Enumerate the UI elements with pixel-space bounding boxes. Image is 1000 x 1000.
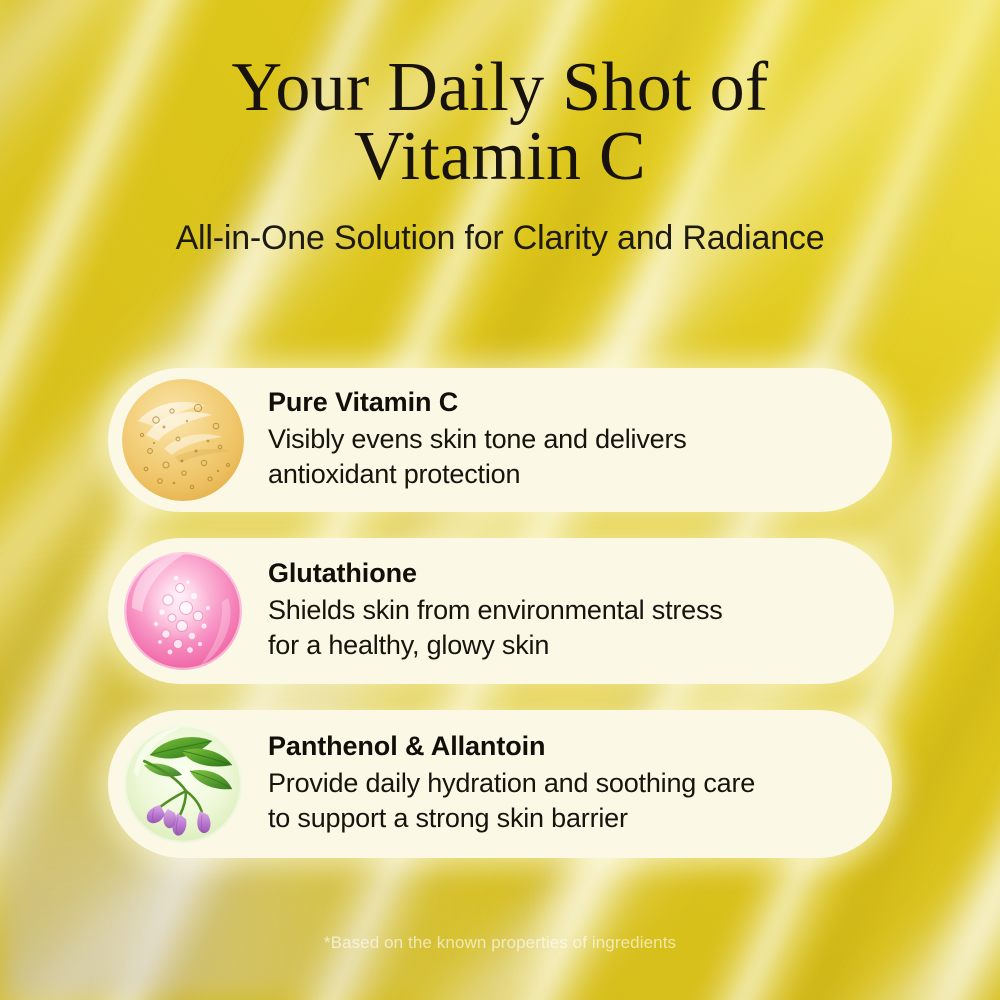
page-title: Your Daily Shot of Vitamin C [0,54,1000,191]
poster-canvas: Your Daily Shot of Vitamin C All-in-One … [0,0,1000,1000]
ingredient-card-description-line-1: Provide daily hydration and soothing car… [268,766,755,801]
ingredient-card-text: Glutathione Shields skin from environmen… [268,558,743,663]
ingredient-card[interactable]: Glutathione Shields skin from environmen… [108,538,894,684]
ingredient-card-description-line-2: to support a strong skin barrier [268,801,755,836]
glutathione-pink-gel-bubble-icon [120,548,246,674]
ingredient-card-title: Panthenol & Allantoin [268,731,755,763]
page-subtitle: All-in-One Solution for Clarity and Radi… [0,219,1000,258]
ingredient-card-title: Glutathione [268,558,723,590]
ingredient-card-description-line-1: Visibly evens skin tone and delivers [268,422,687,457]
ingredient-card[interactable]: Panthenol & Allantoin Provide daily hydr… [108,710,892,858]
panthenol-allantoin-comfrey-plant-icon [120,721,246,847]
ingredient-card-description-line-1: Shields skin from environmental stress [268,593,723,628]
page-title-line-2: Vitamin C [0,123,1000,192]
footnote-disclaimer: *Based on the known properties of ingred… [0,933,1000,953]
header: Your Daily Shot of Vitamin C All-in-One … [0,54,1000,258]
ingredient-card-title: Pure Vitamin C [268,387,687,419]
ingredient-card-list: Pure Vitamin C Visibly evens skin tone a… [0,368,1000,858]
ingredient-card-description: Provide daily hydration and soothing car… [268,766,755,836]
ingredient-card-text: Pure Vitamin C Visibly evens skin tone a… [268,387,707,492]
ingredient-card-description-line-2: antioxidant protection [268,457,687,492]
ingredient-card[interactable]: Pure Vitamin C Visibly evens skin tone a… [108,368,892,512]
vitamin-c-gel-drop-icon [120,377,246,503]
ingredient-card-text: Panthenol & Allantoin Provide daily hydr… [268,731,775,836]
ingredient-card-description: Shields skin from environmental stress f… [268,593,723,663]
ingredient-card-description: Visibly evens skin tone and delivers ant… [268,422,687,492]
ingredient-card-description-line-2: for a healthy, glowy skin [268,628,723,663]
page-title-line-1: Your Daily Shot of [232,49,769,126]
